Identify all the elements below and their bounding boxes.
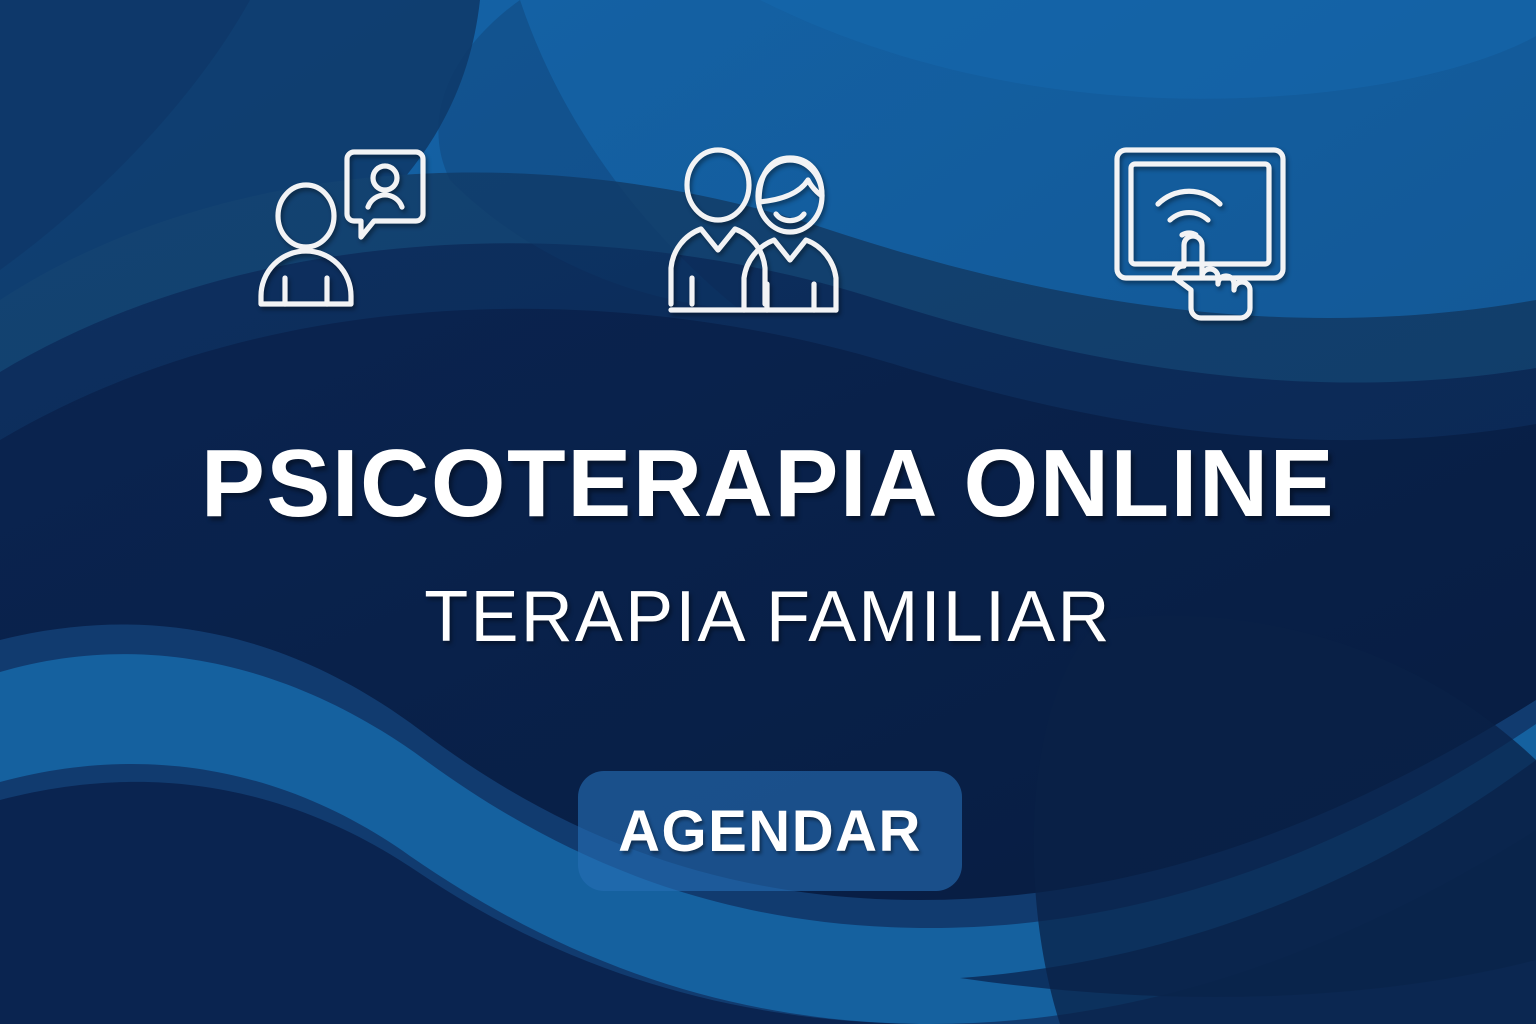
icon-row: [0, 138, 1536, 328]
person-with-chat-bubble-icon: [248, 138, 448, 328]
page-title: PSICOTERAPIA ONLINE: [0, 436, 1536, 532]
page-subtitle: TERAPIA FAMILIAR: [0, 581, 1536, 653]
screen-wifi-touch-icon: [1105, 138, 1305, 328]
two-people-icon: [663, 138, 863, 328]
psychotherapy-promo-banner: PSICOTERAPIA ONLINE TERAPIA FAMILIAR AGE…: [0, 0, 1536, 1024]
schedule-button[interactable]: AGENDAR: [578, 771, 962, 891]
